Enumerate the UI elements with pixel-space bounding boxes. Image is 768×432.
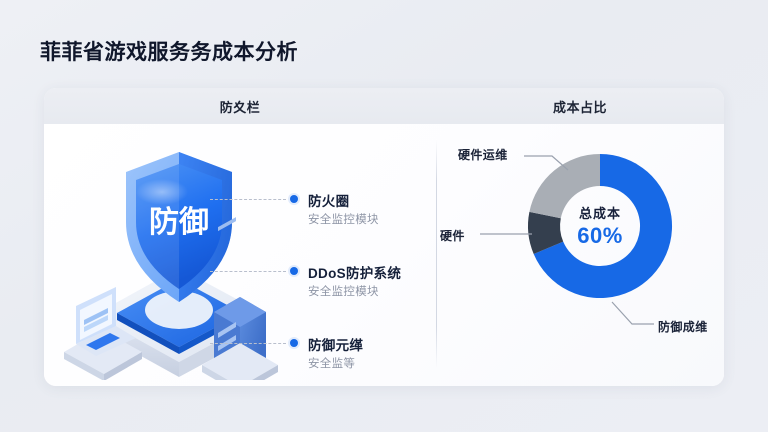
bullet-dot-icon [290,339,298,347]
shield-label: 防御 [149,206,209,239]
card-body: 防御 [44,124,724,386]
card-header-bar: 防夊栏 成本占比 [44,88,724,124]
list-item-subtitle: 安全监控模块 [308,283,379,299]
list-item-title: DDoS防护系统 [308,262,401,282]
connector-dashed-line [210,271,286,272]
bullet-dot-icon [290,195,298,203]
list-item-title: 防火圈 [308,190,349,210]
connector-dashed-line [210,199,286,200]
chart-label-hardware: 硬件 [440,227,465,244]
list-item[interactable]: 防御元缂 安全监等 [210,326,430,386]
chart-leader-lines [436,124,724,386]
list-item-subtitle: 安全监控模块 [308,211,379,227]
column-header-cost-ratio: 成本占比 [436,88,724,124]
list-item[interactable]: DDoS防护系统 安全监控模块 [210,254,430,326]
page-title: 菲菲省游戏服务务成本分析 [40,36,298,66]
bullet-dot-icon [290,267,298,275]
list-item-subtitle: 安全监等 [308,355,355,371]
cost-breakdown-chart: 总成本 60% 硬件运维 硬件 防御成维 [436,124,724,386]
list-item-title: 防御元缂 [308,334,363,354]
list-item[interactable]: 防火圈 安全监控模块 [210,182,430,254]
chart-label-defense: 防御成维 [658,318,708,335]
protection-feature-list: 防火圈 安全监控模块 DDoS防护系统 安全监控模块 防御元缂 安全监等 [210,182,430,386]
column-header-protection: 防夊栏 [44,88,436,124]
connector-dashed-line [210,343,286,344]
chart-label-hardware-ops: 硬件运维 [458,146,508,163]
analysis-card: 防夊栏 成本占比 [44,88,724,386]
